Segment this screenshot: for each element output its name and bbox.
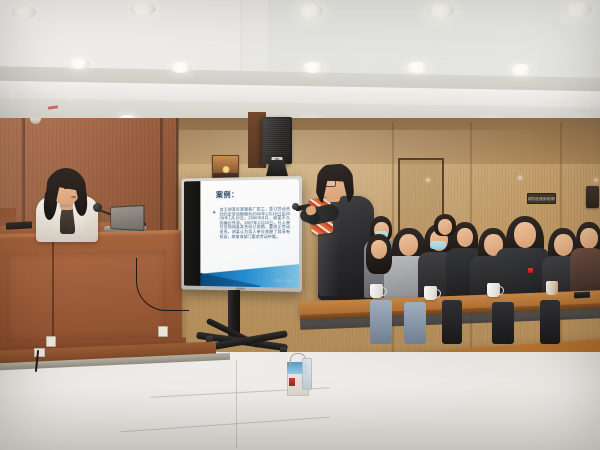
audience-head xyxy=(514,222,536,248)
slide-body-text: 女工胡某应某服装厂招工，签订劳动合同约定劳动期限为2006年1月10日至2009… xyxy=(220,207,291,239)
coffee-mug[interactable] xyxy=(546,281,558,295)
downlight-icon xyxy=(297,4,323,18)
coffee-mug[interactable] xyxy=(487,283,500,297)
audience-head xyxy=(580,228,598,249)
wall-speaker xyxy=(586,186,599,208)
power-outlet[interactable] xyxy=(158,326,168,337)
downlight-icon xyxy=(406,62,429,73)
downlight-icon xyxy=(564,2,592,17)
downlight-icon xyxy=(12,6,36,19)
party-pin-badge xyxy=(528,268,533,273)
display-dark-edge xyxy=(184,181,200,286)
microphone-icon xyxy=(93,203,102,212)
coffee-mug[interactable] xyxy=(424,286,437,300)
speaker-grill xyxy=(264,119,290,155)
moderator-mouth xyxy=(71,196,76,198)
slide-footer: 汇报人：某某某 xyxy=(274,279,293,283)
downlight-icon xyxy=(302,62,324,73)
slide-bullet-icon xyxy=(213,211,216,214)
downlight-icon xyxy=(130,2,156,16)
podium-document xyxy=(6,221,32,229)
ceiling xyxy=(0,0,600,128)
audience-head xyxy=(399,234,418,256)
wall-fixture-dot xyxy=(518,176,522,180)
microphone-head-icon xyxy=(292,203,299,210)
downlight-icon xyxy=(428,4,454,18)
downlight-icon xyxy=(510,64,533,75)
ceiling-speaker: JBL xyxy=(262,117,292,164)
water-bottle[interactable] xyxy=(302,358,312,390)
conference-room-photo: 消防栓使用说明 JBL xyxy=(0,0,600,450)
mobile-phone[interactable] xyxy=(574,292,590,299)
wall-fixture-dot xyxy=(426,178,430,182)
wall-sign-label: 消防栓使用说明 xyxy=(528,197,556,201)
audience-leg xyxy=(370,300,392,344)
picture-sun xyxy=(222,166,229,173)
slide-title: 案例： xyxy=(216,189,239,200)
audience-leg xyxy=(404,302,426,344)
slide-content: 案例： 女工胡某应某服装厂招工，签订劳动合同约定劳动期限为2006年1月10日至… xyxy=(200,179,299,288)
bag-label xyxy=(289,378,295,386)
display-panel: 案例： 女工胡某应某服装厂招工，签订劳动合同约定劳动期限为2006年1月10日至… xyxy=(184,179,299,288)
audience-leg xyxy=(540,300,560,344)
audience-leg xyxy=(492,302,514,344)
downlight-icon xyxy=(170,62,192,73)
audience-head xyxy=(438,219,452,235)
coffee-mug[interactable] xyxy=(370,284,383,298)
audience-head xyxy=(457,228,473,247)
floor-tile-seam xyxy=(236,360,237,448)
wall-fixture-dot xyxy=(594,178,598,182)
ceiling-panel-left xyxy=(0,0,240,77)
face-mask-icon xyxy=(430,241,446,249)
downlight-icon xyxy=(68,58,90,69)
audience-leg xyxy=(442,300,462,344)
power-outlet[interactable] xyxy=(46,336,56,347)
audience-head xyxy=(371,240,387,259)
wall-sign: 消防栓使用说明 xyxy=(527,193,556,204)
laptop-screen[interactable] xyxy=(110,205,144,231)
presentation-display[interactable]: 案例： 女工胡某应某服装厂招工，签订劳动合同约定劳动期限为2006年1月10日至… xyxy=(181,176,302,292)
